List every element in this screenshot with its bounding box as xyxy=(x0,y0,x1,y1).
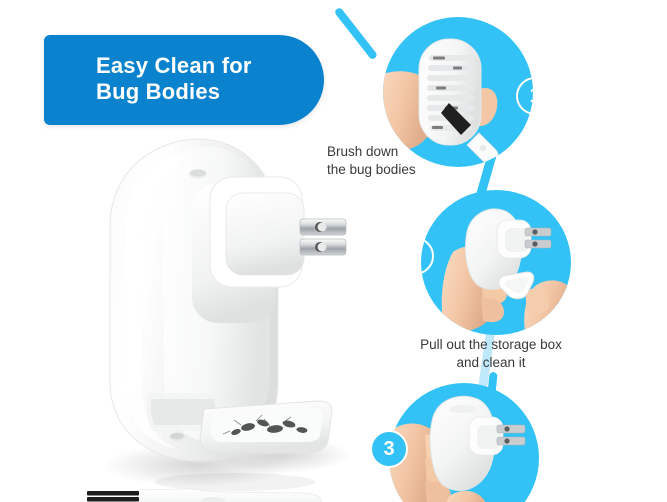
storage-tray xyxy=(200,401,332,453)
cleaning-brush xyxy=(85,470,325,502)
step-2-badge: 2 xyxy=(396,237,434,275)
step-1-caption: Brush down the bug bodies xyxy=(327,143,416,179)
step-3-circle xyxy=(389,383,539,502)
product-illustration xyxy=(70,135,370,495)
step-2-caption: Pull out the storage box and clean it xyxy=(393,336,589,372)
banner-title: Easy Clean for Bug Bodies xyxy=(96,53,306,105)
step-3-badge: 3 xyxy=(370,430,408,468)
brush-bristles xyxy=(87,491,139,502)
step-1-badge: 1 xyxy=(516,77,554,115)
plug-prongs xyxy=(300,219,346,255)
connector-line-top xyxy=(334,7,378,61)
step-2-circle xyxy=(421,190,571,335)
product-infographic: Easy Clean for Bug Bodies xyxy=(0,0,667,502)
banner: Easy Clean for Bug Bodies xyxy=(44,35,324,125)
